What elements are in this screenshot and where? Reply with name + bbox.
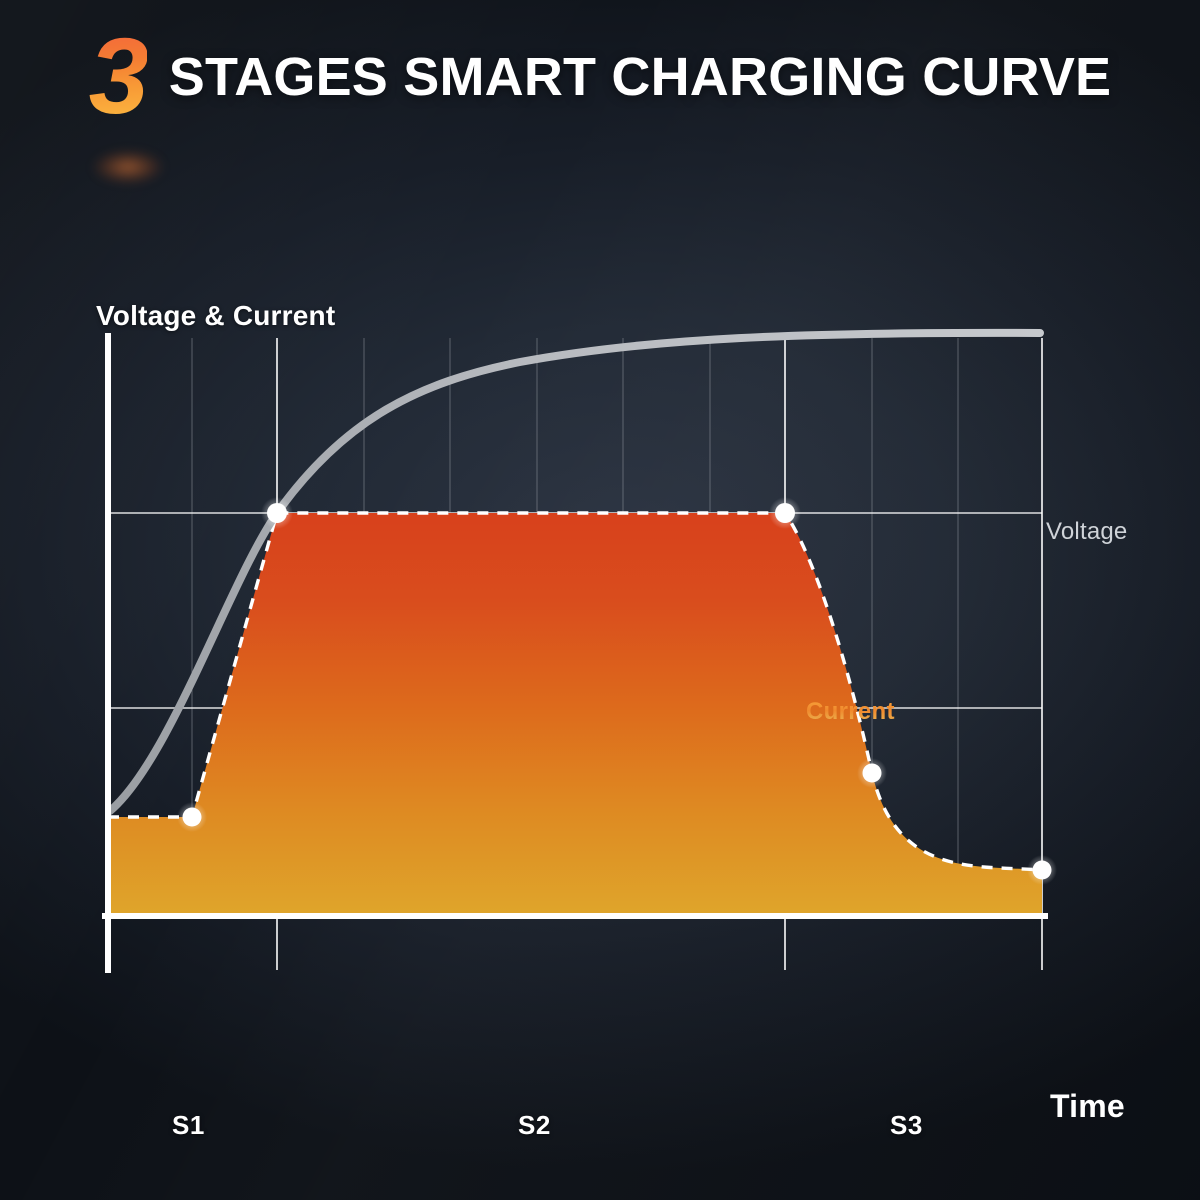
page-header: 3 STAGES SMART CHARGING CURVE <box>0 28 1200 138</box>
charging-curve-chart: Voltage & Current <box>0 290 1200 990</box>
x-tick-label-s1: S1 <box>172 1110 205 1141</box>
current-area-fill <box>108 513 1042 915</box>
number-reflection-glow <box>92 150 164 184</box>
voltage-curve-label: Voltage <box>1046 518 1127 546</box>
current-curve-label: Current <box>806 698 895 726</box>
page-title: STAGES SMART CHARGING CURVE <box>169 28 1111 105</box>
chart-plot-svg <box>0 290 1200 990</box>
x-axis-title: Time <box>1050 1088 1125 1125</box>
x-tick-label-s3: S3 <box>890 1110 923 1141</box>
infographic-page: 3 STAGES SMART CHARGING CURVE Voltage & … <box>0 0 1200 1200</box>
stage-count-number: 3 <box>89 26 147 125</box>
x-tick-label-s2: S2 <box>518 1110 551 1141</box>
